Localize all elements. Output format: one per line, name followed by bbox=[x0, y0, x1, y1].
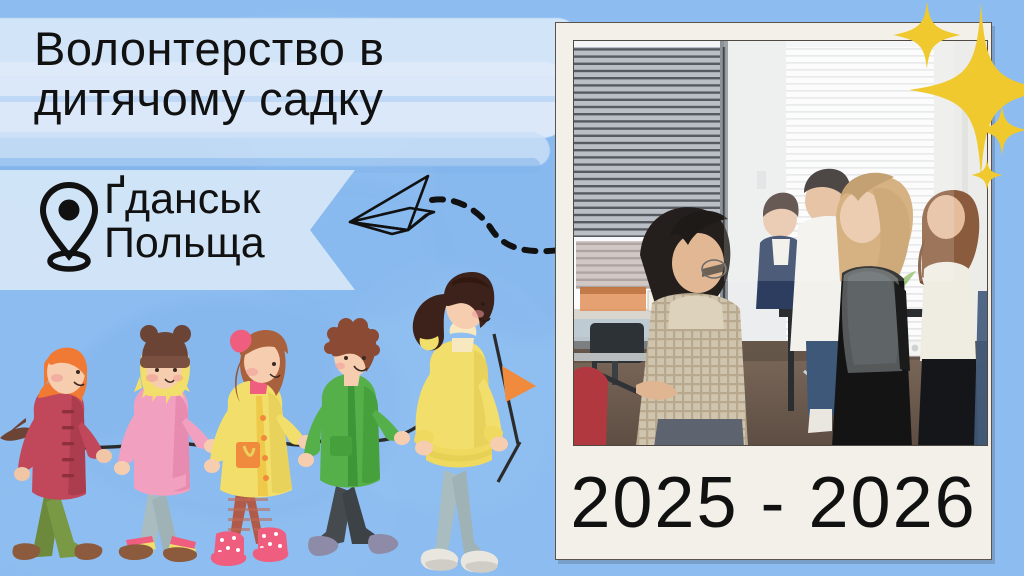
child-2 bbox=[114, 325, 220, 562]
poster-canvas: Волонтерство в дитячому садку Ґданськ По… bbox=[0, 0, 1024, 576]
location-city: Ґданськ bbox=[104, 178, 265, 222]
sparkle-medium-icon bbox=[976, 104, 1024, 156]
page-title: Волонтерство в дитячому садку bbox=[34, 26, 564, 122]
child-1 bbox=[0, 348, 112, 560]
dashed-path-icon bbox=[432, 199, 560, 251]
child-4 bbox=[298, 318, 410, 556]
children-illustration bbox=[0, 246, 560, 576]
title-line-2: дитячому садку bbox=[34, 76, 564, 122]
child-3 bbox=[204, 330, 314, 566]
sparkle-tiny-icon bbox=[970, 158, 1004, 192]
title-line-1: Волонтерство в bbox=[34, 26, 564, 72]
teacher bbox=[413, 272, 536, 573]
year-range: 2025 - 2026 bbox=[555, 446, 992, 560]
